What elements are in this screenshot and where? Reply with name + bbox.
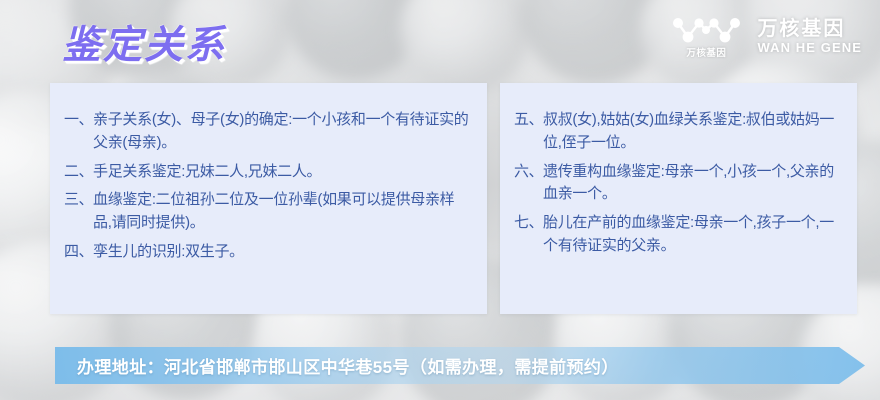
list-item-number: 六、	[514, 161, 543, 184]
address-note: （如需办理，需提前预约）	[410, 353, 619, 378]
panel-right: 五、 叔叔(女),姑姑(女)血绿关系鉴定:叔伯或姑妈一位,侄子一位。 六、 遗传…	[500, 83, 857, 314]
address-value: 河北省邯郸市邯山区中华巷55号	[164, 353, 410, 378]
list-item: 三、 血缘鉴定:二位祖孙二位及一位孙辈(如果可以提供母亲样品,请同时提供)。	[64, 189, 471, 235]
list-item-number: 七、	[514, 212, 543, 235]
list-item: 四、 孪生儿的识别:双生子。	[64, 241, 471, 264]
list-item: 七、 胎儿在产前的血缘鉴定:母亲一个,孩子一个,一个有待证实的父亲。	[514, 212, 841, 258]
address-ribbon: 办理地址： 河北省邯郸市邯山区中华巷55号 （如需办理，需提前预约）	[55, 347, 865, 384]
list-item-text: 孪生儿的识别:双生子。	[93, 241, 471, 264]
list-item-text: 胎儿在产前的血缘鉴定:母亲一个,孩子一个,一个有待证实的父亲。	[543, 212, 841, 258]
brand-mark-label: 万核基因	[686, 49, 726, 59]
list-item-text: 叔叔(女),姑姑(女)血绿关系鉴定:叔伯或姑妈一位,侄子一位。	[543, 109, 841, 155]
list-item-text: 遗传重构血缘鉴定:母亲一个,小孩一个,父亲的血亲一个。	[543, 161, 841, 207]
list-item-number: 五、	[514, 109, 543, 132]
address-label: 办理地址：	[77, 353, 164, 378]
list-item-number: 四、	[64, 241, 93, 264]
page-title: 鉴定关系	[62, 14, 226, 70]
brand-lockup: 万核基因 万核基因 WAN HE GENE	[669, 16, 862, 59]
list-item: 五、 叔叔(女),姑姑(女)血绿关系鉴定:叔伯或姑妈一位,侄子一位。	[514, 109, 841, 155]
list-item: 一、 亲子关系(女)、母子(女)的确定:一个小孩和一个有待证实的父亲(母亲)。	[64, 109, 471, 155]
brand-name-cn: 万核基因	[757, 19, 862, 40]
list-item-number: 二、	[64, 161, 93, 184]
list-item-text: 血缘鉴定:二位祖孙二位及一位孙辈(如果可以提供母亲样品,请同时提供)。	[93, 189, 471, 235]
address-text-group: 办理地址： 河北省邯郸市邯山区中华巷55号 （如需办理，需提前预约）	[77, 347, 619, 384]
list-item: 二、 手足关系鉴定:兄妹二人,兄妹二人。	[64, 161, 471, 184]
content-panels: 一、 亲子关系(女)、母子(女)的确定:一个小孩和一个有待证实的父亲(母亲)。 …	[50, 83, 857, 314]
brand-name-en: WAN HE GENE	[757, 41, 862, 55]
molecule-network-icon	[669, 16, 743, 46]
list-item-text: 手足关系鉴定:兄妹二人,兄妹二人。	[93, 161, 471, 184]
list-item-number: 三、	[64, 189, 93, 212]
brand-mark: 万核基因	[669, 16, 743, 59]
poster-root: 鉴定关系	[0, 0, 880, 400]
list-item: 六、 遗传重构血缘鉴定:母亲一个,小孩一个,父亲的血亲一个。	[514, 161, 841, 207]
list-item-text: 亲子关系(女)、母子(女)的确定:一个小孩和一个有待证实的父亲(母亲)。	[93, 109, 471, 155]
list-item-number: 一、	[64, 109, 93, 132]
panel-left: 一、 亲子关系(女)、母子(女)的确定:一个小孩和一个有待证实的父亲(母亲)。 …	[50, 83, 487, 314]
brand-wordmark: 万核基因 WAN HE GENE	[757, 19, 862, 55]
